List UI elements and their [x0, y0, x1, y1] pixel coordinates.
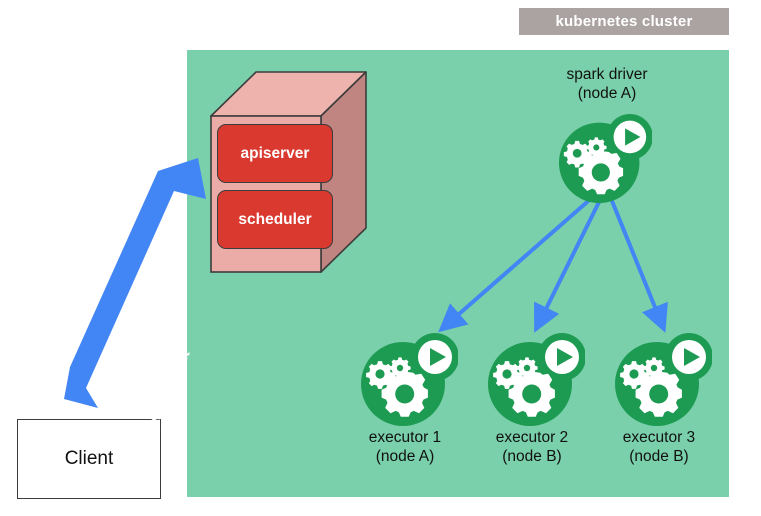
executor-2-label: executor 2 (node B) — [467, 428, 597, 466]
executor-1-label-line2: (node A) — [340, 447, 470, 466]
executor-1-label-line1: executor 1 — [340, 428, 470, 447]
spark-driver-label-line2: (node A) — [527, 84, 687, 103]
spark-driver-label: spark driver (node A) — [527, 65, 687, 103]
node-executor-3 — [612, 328, 712, 428]
diagram-canvas: kubernetes cluster Client spark-submit a… — [0, 0, 761, 516]
executor-3-label: executor 3 (node B) — [594, 428, 724, 466]
executor-3-label-line2: (node B) — [594, 447, 724, 466]
node-spark-driver — [556, 113, 652, 205]
gears-play-node-icon — [556, 113, 652, 205]
executor-3-label-line1: executor 3 — [594, 428, 724, 447]
node-executor-2 — [485, 328, 585, 428]
gears-play-node-icon — [485, 328, 585, 428]
gears-play-node-icon — [612, 328, 712, 428]
executor-1-label: executor 1 (node A) — [340, 428, 470, 466]
executor-2-label-line1: executor 2 — [467, 428, 597, 447]
gears-play-node-icon — [358, 328, 458, 428]
spark-driver-label-line1: spark driver — [527, 65, 687, 84]
node-executor-1 — [358, 328, 458, 428]
executor-2-label-line2: (node B) — [467, 447, 597, 466]
